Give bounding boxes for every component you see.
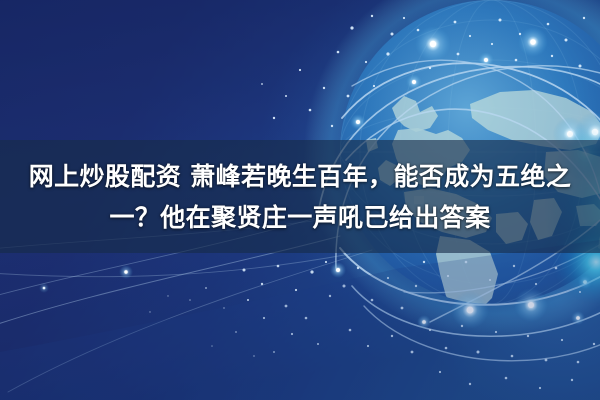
headline-line-2: 一？他在聚贤庄一声吼已给出答案 [109, 197, 490, 238]
thumbnail-canvas: 网上炒股配资 萧峰若晚生百年，能否成为五绝之 一？他在聚贤庄一声吼已给出答案 [0, 0, 600, 400]
headline-line-1: 网上炒股配资 萧峰若晚生百年，能否成为五绝之 [29, 156, 572, 197]
page-title: 网上炒股配资 萧峰若晚生百年，能否成为五绝之 一？他在聚贤庄一声吼已给出答案 [0, 140, 600, 253]
